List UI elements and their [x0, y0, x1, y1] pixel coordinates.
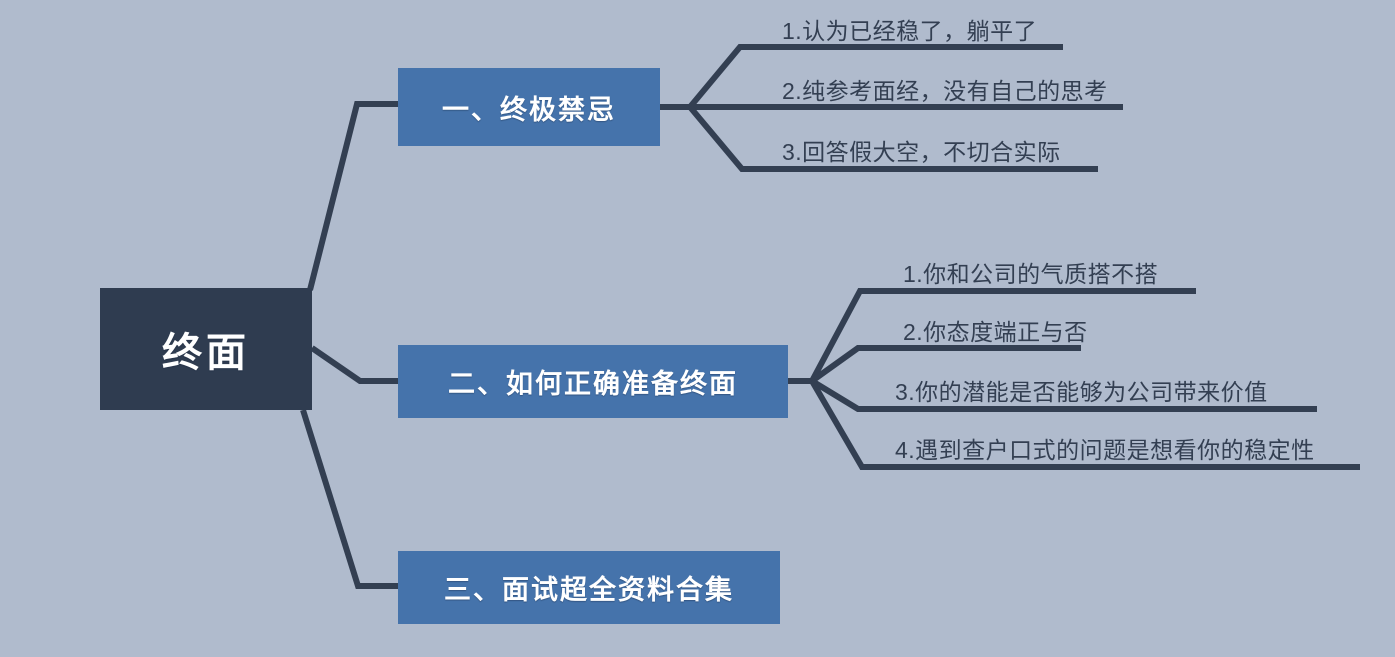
connector-root-to-branch-1 — [310, 104, 400, 290]
leaf-label-b1-1[interactable]: 1.认为已经稳了，躺平了 — [782, 12, 1037, 46]
connector-root-to-branch-2 — [312, 348, 400, 381]
connector-root-to-branch-3 — [303, 410, 400, 586]
branch-node-1[interactable]: 一、终极禁忌 — [398, 68, 660, 146]
leaf-label-b1-2[interactable]: 2.纯参考面经，没有自己的思考 — [782, 72, 1108, 106]
leaf-label-b2-2[interactable]: 2.你态度端正与否 — [903, 313, 1088, 347]
branch-node-2[interactable]: 二、如何正确准备终面 — [398, 345, 788, 418]
branch-node-3[interactable]: 三、面试超全资料合集 — [398, 551, 780, 624]
root-node[interactable]: 终面 — [100, 288, 312, 410]
branch-node-2-label: 二、如何正确准备终面 — [448, 362, 738, 401]
mindmap-canvas: 终面 一、终极禁忌 二、如何正确准备终面 三、面试超全资料合集 1.认为已经稳了… — [0, 0, 1395, 657]
leaf-label-b1-3[interactable]: 3.回答假大空，不切合实际 — [782, 133, 1061, 167]
root-node-label: 终面 — [162, 320, 250, 378]
branch-node-3-label: 三、面试超全资料合集 — [444, 568, 734, 607]
leaf-label-b2-3[interactable]: 3.你的潜能是否能够为公司带来价值 — [895, 373, 1268, 407]
leaf-label-b2-1[interactable]: 1.你和公司的气质搭不搭 — [903, 255, 1158, 289]
branch-node-1-label: 一、终极禁忌 — [442, 88, 616, 127]
leaf-label-b2-4[interactable]: 4.遇到查户口式的问题是想看你的稳定性 — [895, 431, 1315, 465]
